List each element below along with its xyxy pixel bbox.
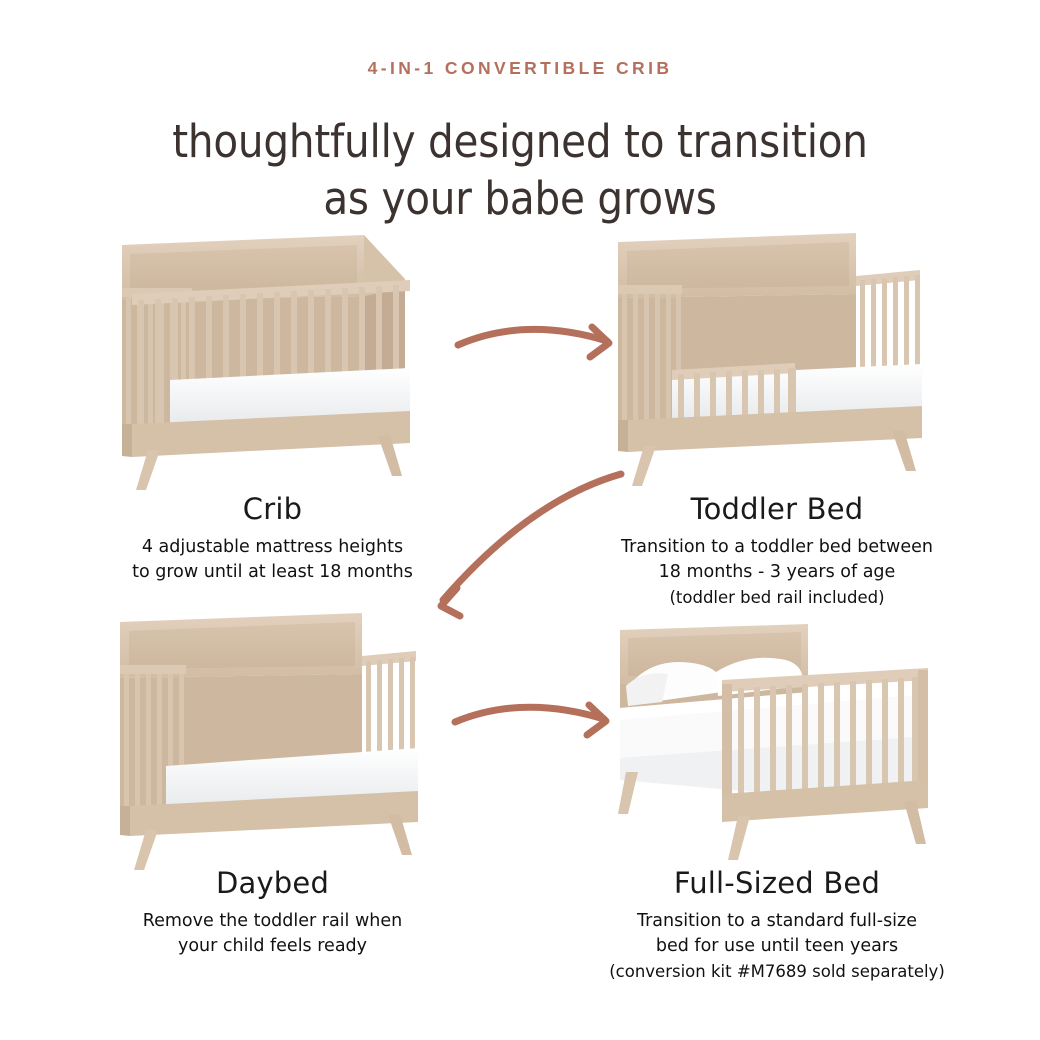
stage-full-sized-bed-caption: Full-Sized Bed Transition to a standard … <box>578 866 976 984</box>
stage-daybed-title: Daybed <box>95 866 450 900</box>
stage-full-sized-bed-desc-2: bed for use until teen years <box>578 934 976 959</box>
stage-crib-caption: Crib 4 adjustable mattress heights to gr… <box>95 492 450 585</box>
page-title-line-1: thoughtfully designed to transition <box>0 113 1040 170</box>
stage-toddler-bed-desc-3: (toddler bed rail included) <box>578 585 976 610</box>
stage-full-sized-bed-desc-1: Transition to a standard full-size <box>578 909 976 934</box>
stage-toddler-bed-desc-2: 18 months - 3 years of age <box>578 560 976 585</box>
page-title: thoughtfully designed to transition as y… <box>0 113 1040 227</box>
page-title-line-2: as your babe grows <box>0 170 1040 227</box>
stage-crib-desc-1: 4 adjustable mattress heights <box>95 535 450 560</box>
stage-crib-image <box>110 228 430 490</box>
stage-toddler-bed-desc-1: Transition to a toddler bed between <box>578 535 976 560</box>
stage-daybed-image <box>110 608 430 870</box>
stage-full-sized-bed-title: Full-Sized Bed <box>578 866 976 900</box>
infographic-page: 4-IN-1 CONVERTIBLE CRIB thoughtfully des… <box>0 0 1040 1040</box>
stage-toddler-bed-image <box>610 228 940 490</box>
stage-full-sized-bed-desc-3: (conversion kit #M7689 sold separately) <box>578 959 976 984</box>
stage-daybed-caption: Daybed Remove the toddler rail when your… <box>95 866 450 959</box>
stage-toddler-bed-title: Toddler Bed <box>578 492 976 526</box>
eyebrow-label: 4-IN-1 CONVERTIBLE CRIB <box>0 58 1040 79</box>
arrow-crib-to-toddler-icon <box>458 327 609 357</box>
stage-toddler-bed-caption: Toddler Bed Transition to a toddler bed … <box>578 492 976 610</box>
stage-daybed-desc-2: your child feels ready <box>95 934 450 959</box>
stage-crib-desc-2: to grow until at least 18 months <box>95 560 450 585</box>
stage-full-sized-bed-image <box>598 608 960 870</box>
stage-crib-title: Crib <box>95 492 450 526</box>
stage-daybed-desc-1: Remove the toddler rail when <box>95 909 450 934</box>
arrow-daybed-to-full-icon <box>455 705 606 735</box>
